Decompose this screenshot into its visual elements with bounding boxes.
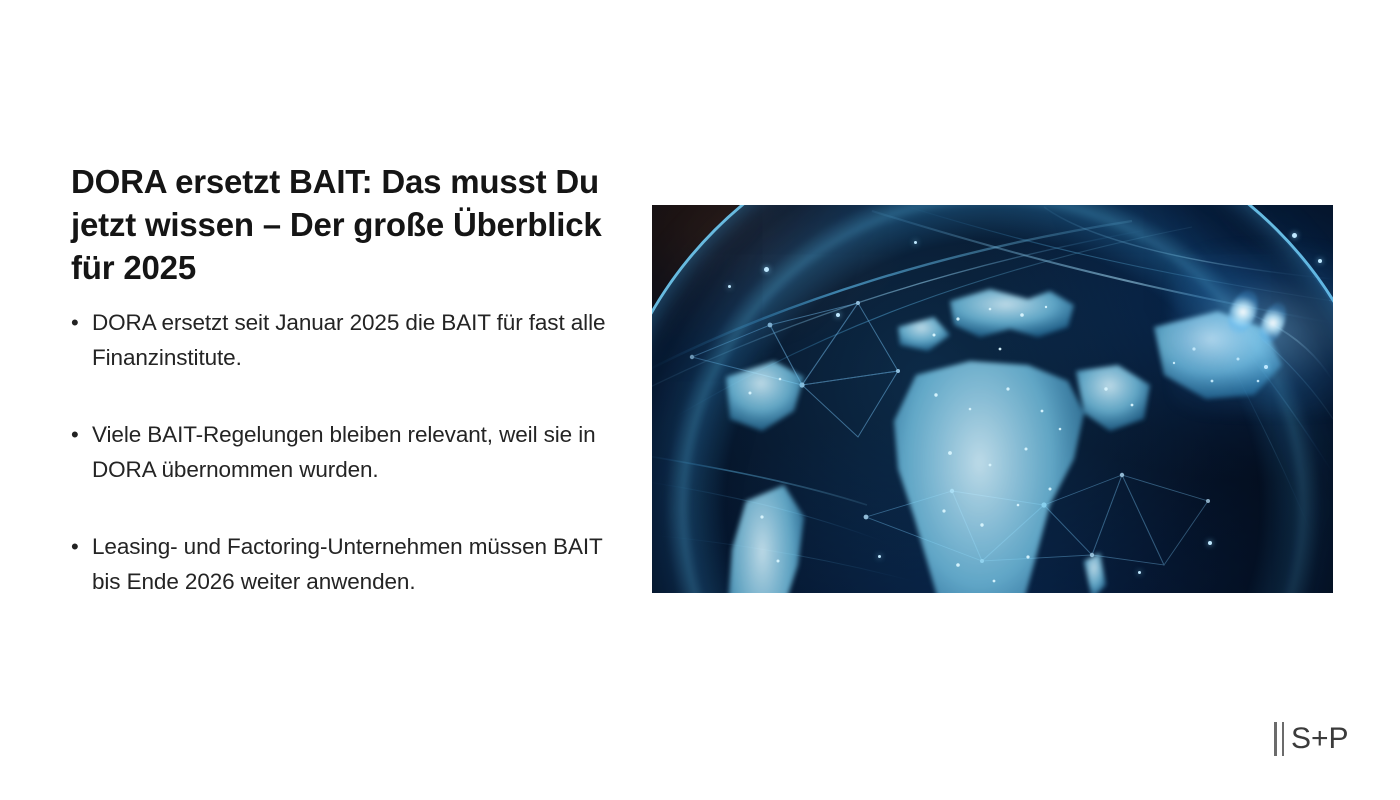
figure-inner	[652, 205, 1333, 593]
slide-title: DORA ersetzt BAIT: Das musst Du jetzt wi…	[71, 160, 611, 289]
particle-dot	[878, 555, 881, 558]
logo-bar-icon	[1274, 722, 1277, 756]
list-item: • Leasing- und Factoring-Unternehmen müs…	[68, 529, 628, 599]
particle-dot	[836, 313, 840, 317]
logo-bars-icon	[1274, 722, 1284, 756]
particle-dot	[914, 241, 917, 244]
bullet-marker-icon: •	[68, 417, 92, 452]
bullet-list: • DORA ersetzt seit Januar 2025 die BAIT…	[68, 305, 628, 599]
logo-text: S+P	[1291, 722, 1349, 756]
flare-glow	[1172, 245, 1333, 415]
particle-dot	[1318, 259, 1322, 263]
particle-dot	[1292, 233, 1297, 238]
bullet-text: Leasing- und Factoring-Unternehmen müsse…	[92, 529, 628, 599]
bullet-marker-icon: •	[68, 305, 92, 340]
sp-logo: S+P	[1274, 718, 1349, 760]
particle-dot	[764, 267, 769, 272]
particle-dot	[1264, 365, 1268, 369]
slide-canvas: DORA ersetzt BAIT: Das musst Du jetzt wi…	[0, 0, 1400, 800]
particle-dot	[728, 285, 731, 288]
logo-bar-icon	[1282, 722, 1285, 756]
list-item: • DORA ersetzt seit Januar 2025 die BAIT…	[68, 305, 628, 375]
bullet-marker-icon: •	[68, 529, 92, 564]
digital-globe-network-image	[652, 205, 1333, 593]
bullet-text: DORA ersetzt seit Januar 2025 die BAIT f…	[92, 305, 628, 375]
particle-dot	[1138, 571, 1141, 574]
list-item: • Viele BAIT-Regelungen bleiben relevant…	[68, 417, 628, 487]
bullet-text: Viele BAIT-Regelungen bleiben relevant, …	[92, 417, 628, 487]
particle-dot	[1208, 541, 1212, 545]
